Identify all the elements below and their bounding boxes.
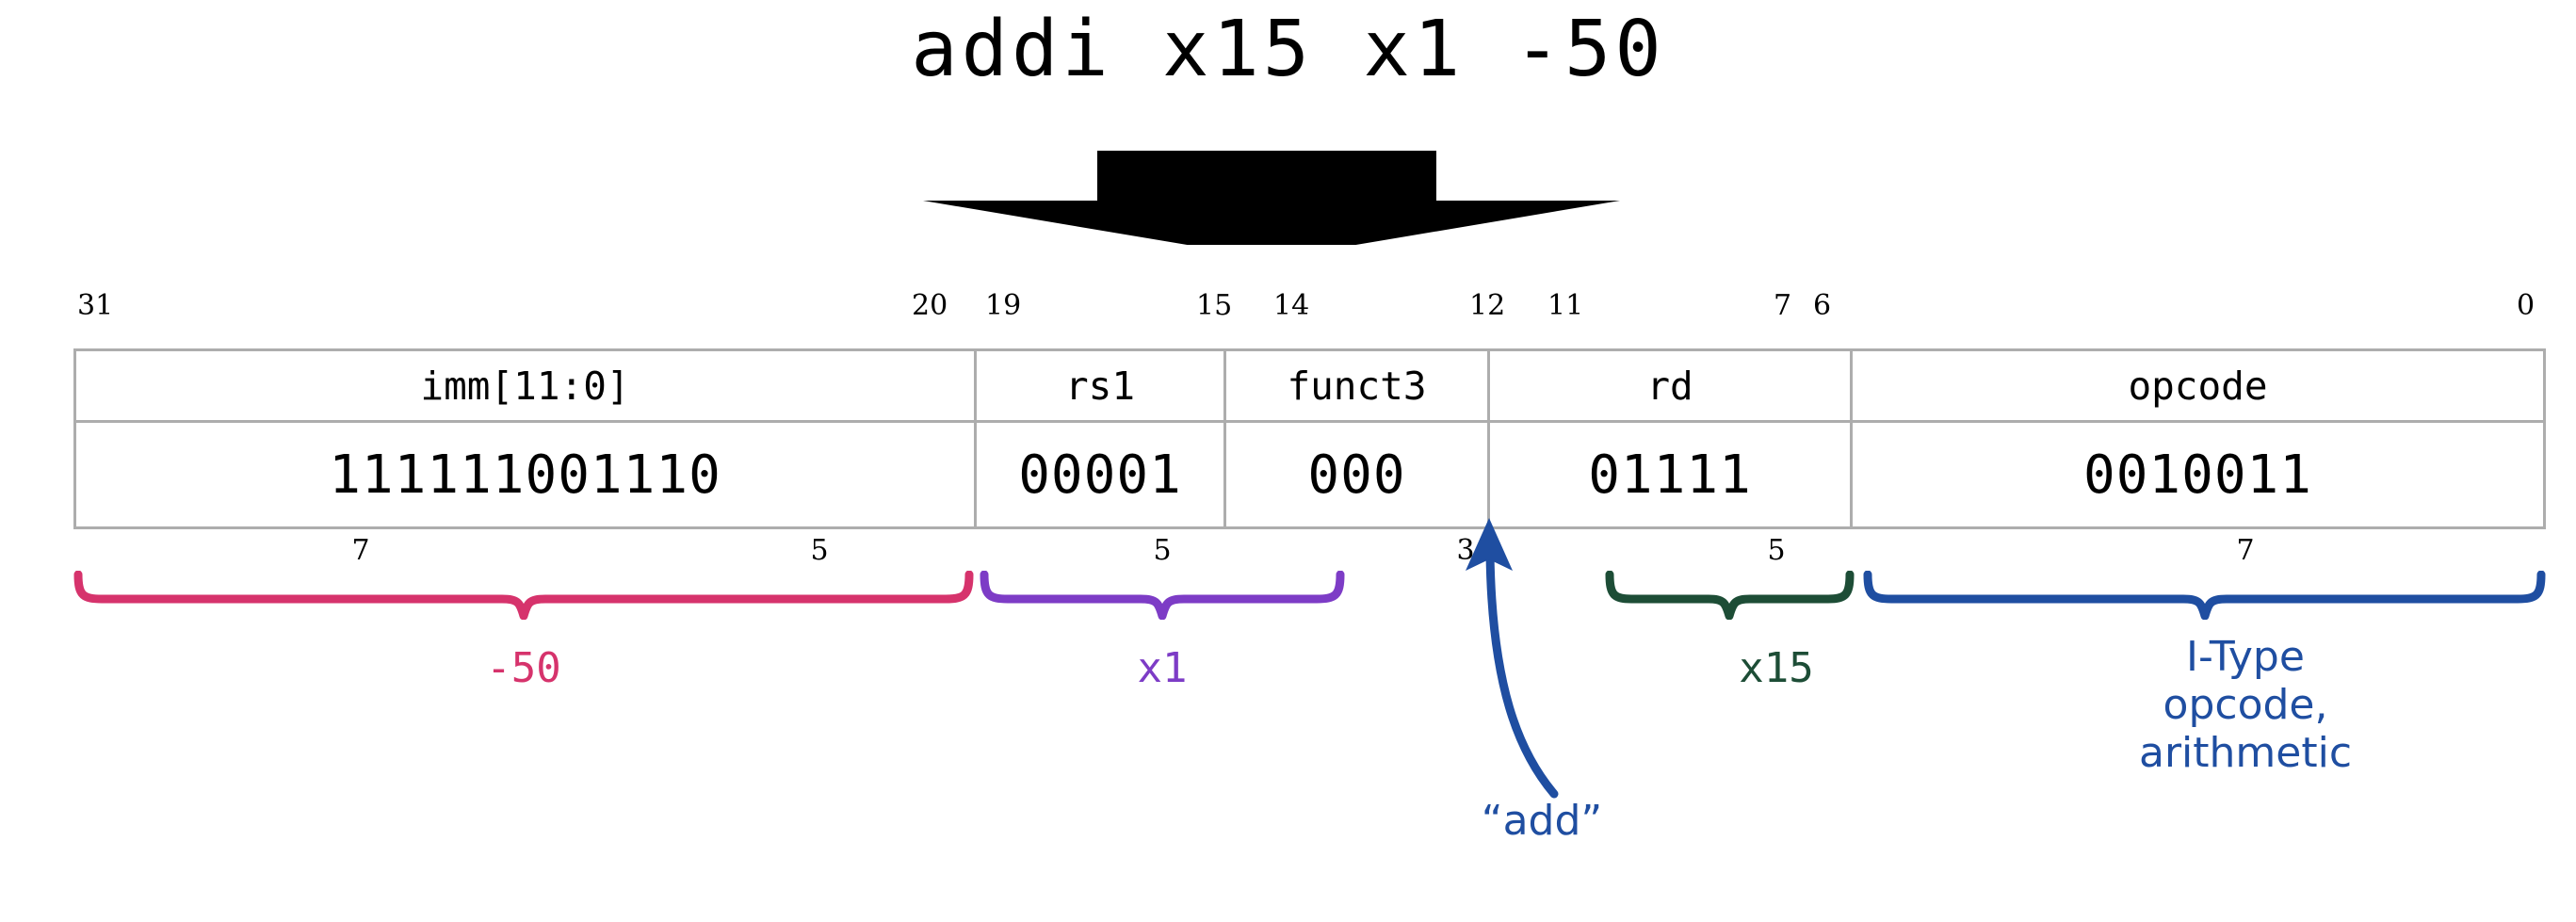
rs1-brace [980, 571, 1345, 620]
imm-brace [73, 571, 974, 620]
field-name: rd [1490, 351, 1850, 423]
field-bits: 111111001110 [76, 423, 974, 526]
field-bits: 0010011 [1853, 423, 2543, 526]
bit-number: 31 [77, 292, 113, 320]
field-name: rs1 [977, 351, 1223, 423]
opcode-caption: I-Type opcode, arithmetic [2139, 633, 2352, 777]
funct3-callout-label: “add” [1482, 797, 1602, 845]
bit-number: 11 [1547, 292, 1583, 320]
field-name: funct3 [1226, 351, 1487, 423]
bit-number: 15 [1196, 292, 1232, 320]
field-name: imm[11:0] [76, 351, 974, 423]
bit-number: 0 [2517, 292, 2535, 320]
field-rd: rd 01111 [1490, 351, 1853, 526]
imm-caption: -50 [486, 644, 560, 692]
rd-caption: x15 [1739, 644, 1813, 692]
field-funct3: funct3 000 [1226, 351, 1490, 526]
field-width: 7 [351, 537, 369, 565]
bit-number: 7 [1774, 292, 1791, 320]
field-width: 5 [1767, 537, 1785, 565]
down-arrow-icon [904, 141, 1639, 245]
field-imm: imm[11:0] 111111001110 [76, 351, 977, 526]
diagram-canvas: addi x15 x1 -50 31 20 19 15 14 12 11 7 6… [0, 0, 2576, 922]
bit-number: 12 [1469, 292, 1505, 320]
bit-number: 20 [912, 292, 948, 320]
field-width: 5 [1153, 537, 1171, 565]
bit-number: 14 [1273, 292, 1309, 320]
field-bits: 00001 [977, 423, 1223, 526]
field-opcode: opcode 0010011 [1853, 351, 2543, 526]
instruction-encoding-table: imm[11:0] 111111001110 rs1 00001 funct3 … [73, 348, 2546, 529]
bit-number: 6 [1813, 292, 1831, 320]
field-rs1: rs1 00001 [977, 351, 1226, 526]
instruction-title: addi x15 x1 -50 [0, 8, 2576, 92]
rd-brace [1605, 571, 1855, 620]
field-width: 5 [810, 537, 828, 565]
bit-number: 19 [985, 292, 1021, 320]
funct3-callout-arrow-icon [1450, 516, 1601, 799]
field-bits: 01111 [1490, 423, 1850, 526]
field-bits: 000 [1226, 423, 1487, 526]
field-width: 7 [2236, 537, 2254, 565]
opcode-brace [1863, 571, 2546, 620]
rs1-caption: x1 [1138, 644, 1188, 692]
field-name: opcode [1853, 351, 2543, 423]
